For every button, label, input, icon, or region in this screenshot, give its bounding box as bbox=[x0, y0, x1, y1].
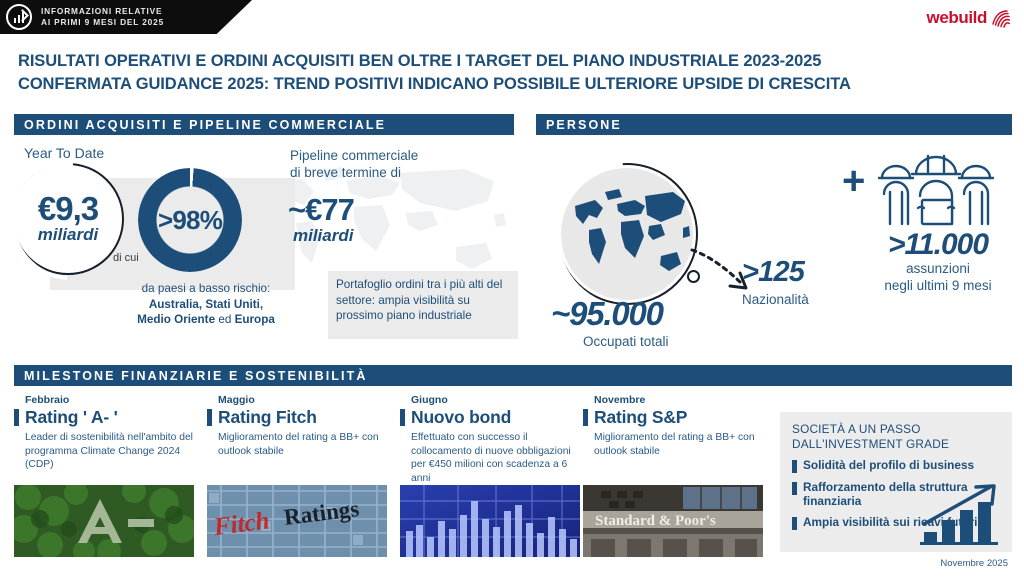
hires-label-line-2: negli ultimi 9 mesi bbox=[850, 277, 1024, 294]
svg-text:Standard & Poor's: Standard & Poor's bbox=[595, 513, 716, 529]
headline-line-1: RISULTATI OPERATIVI E ORDINI ACQUISITI B… bbox=[18, 50, 1010, 73]
milestone-card-0: Febbraio Rating ' A- ' Leader di sosteni… bbox=[14, 394, 196, 472]
milestone-card-3: Novembre Rating S&P Miglioramento del ra… bbox=[583, 394, 765, 458]
hires-label-line-1: assunzioni bbox=[850, 260, 1024, 277]
fitch-ratings-building-photo: Fitch Ratings bbox=[207, 485, 387, 557]
infographic-page: INFORMAZIONI RELATIVE AI PRIMI 9 MESI DE… bbox=[0, 0, 1024, 580]
ribbon-line-1: INFORMAZIONI RELATIVE bbox=[41, 6, 164, 17]
milestone-month: Febbraio bbox=[25, 394, 196, 406]
low-risk-countries-1: Australia, Stati Uniti, bbox=[149, 298, 263, 311]
plus-icon: + bbox=[842, 161, 865, 201]
webuild-logo: webuild bbox=[927, 8, 1010, 28]
ribbon-line-2: AI PRIMI 9 MESI DEL 2025 bbox=[41, 17, 164, 28]
milestone-description: Effettuato con successo il collocamento … bbox=[411, 431, 582, 485]
employees-label: Occupati totali bbox=[583, 334, 669, 349]
milestone-month: Maggio bbox=[218, 394, 389, 406]
pipeline-value: ~€77 bbox=[288, 192, 354, 228]
pipeline-lead: Pipeline commerciale di breve termine di bbox=[290, 147, 418, 181]
footer-date: Novembre 2025 bbox=[940, 558, 1008, 569]
logo-wordmark: webuild bbox=[927, 8, 987, 28]
milestone-description: Leader di sostenibilità nell'ambito del … bbox=[25, 431, 196, 472]
milestone-tick-icon bbox=[400, 409, 405, 426]
milestone-month: Novembre bbox=[594, 394, 765, 406]
milestone-title: Rating ' A- ' bbox=[25, 407, 118, 428]
standard-and-poors-building-photo: Standard & Poor's bbox=[583, 485, 763, 557]
ig-heading-line-1: SOCIETÀ A UN PASSO bbox=[792, 422, 1000, 437]
portfolio-note: Portafoglio ordini tra i più alti del se… bbox=[328, 271, 518, 339]
chart-bars-arrow-icon bbox=[6, 4, 32, 30]
milestone-tick-icon bbox=[583, 409, 588, 426]
section-header-milestones: MILESTONE FINANZIARIE E SOSTENIBILITÀ bbox=[14, 365, 1012, 386]
growth-bar-chart-arrow-icon bbox=[920, 484, 1004, 546]
low-risk-lead: da paesi a basso rischio: bbox=[142, 282, 271, 295]
pipeline-lead-line-2: di breve termine di bbox=[290, 164, 418, 181]
headline-line-2: CONFERMATA GUIDANCE 2025: TREND POSITIVI… bbox=[18, 73, 1010, 96]
page-title: RISULTATI OPERATIVI E ORDINI ACQUISITI B… bbox=[18, 50, 1010, 96]
globe-icon bbox=[556, 163, 698, 305]
milestone-description: Miglioramento del rating a BB+ con outlo… bbox=[594, 431, 765, 458]
blue-stock-chart-photo bbox=[400, 485, 580, 557]
milestone-tick-icon bbox=[207, 409, 212, 426]
section-header-people: PERSONE bbox=[536, 114, 1012, 135]
milestone-month: Giugno bbox=[411, 394, 582, 406]
milestone-description: Miglioramento del rating a BB+ con outlo… bbox=[218, 431, 389, 458]
milestone-title: Nuovo bond bbox=[411, 407, 511, 428]
milestone-title: Rating S&P bbox=[594, 407, 687, 428]
ig-bullet-0: Solidità del profilo di business bbox=[792, 458, 1000, 473]
pipeline-unit: miliardi bbox=[293, 226, 353, 246]
nationalities-value: >125 bbox=[742, 256, 804, 289]
low-risk-countries-3: Europa bbox=[235, 313, 275, 326]
low-risk-caption: da paesi a basso rischio: Australia, Sta… bbox=[100, 281, 312, 328]
donut-value: >98% bbox=[158, 205, 222, 236]
ytd-label: Year To Date bbox=[24, 145, 104, 161]
ytd-circle: €9,3 miliardi bbox=[12, 163, 124, 275]
investment-grade-box: SOCIETÀ A UN PASSO DALL'INVESTMENT GRADE… bbox=[780, 412, 1012, 552]
bullet-tick-icon bbox=[792, 517, 797, 530]
section-header-orders: ORDINI ACQUISITI E PIPELINE COMMERCIALE bbox=[14, 114, 514, 135]
ig-bullet-text: Solidità del profilo di business bbox=[803, 458, 974, 472]
milestone-card-1: Maggio Rating Fitch Miglioramento del ra… bbox=[207, 394, 389, 458]
period-ribbon: INFORMAZIONI RELATIVE AI PRIMI 9 MESI DE… bbox=[0, 0, 252, 34]
ig-heading-line-2: DALL'INVESTMENT GRADE bbox=[792, 437, 1000, 452]
employees-value: ~95.000 bbox=[551, 295, 663, 333]
milestone-tick-icon bbox=[14, 409, 19, 426]
forest-aerial-a-minus-photo bbox=[14, 485, 194, 557]
pipeline-lead-line-1: Pipeline commerciale bbox=[290, 147, 418, 164]
hires-value: >11.000 bbox=[856, 228, 1020, 262]
di-cui-label: di cui bbox=[113, 252, 139, 264]
investment-grade-heading: SOCIETÀ A UN PASSO DALL'INVESTMENT GRADE bbox=[792, 422, 1000, 451]
workers-group-icon bbox=[872, 148, 1000, 234]
webuild-swirl-icon bbox=[990, 9, 1010, 28]
nationalities-label: Nazionalità bbox=[742, 292, 809, 307]
hires-label: assunzioni negli ultimi 9 mesi bbox=[850, 260, 1024, 294]
milestone-card-2: Giugno Nuovo bond Effettuato con success… bbox=[400, 394, 582, 485]
low-risk-conjunction: ed bbox=[215, 313, 235, 326]
low-risk-donut: >98% bbox=[138, 168, 242, 272]
milestone-title: Rating Fitch bbox=[218, 407, 317, 428]
bullet-tick-icon bbox=[792, 482, 797, 495]
ribbon-text: INFORMAZIONI RELATIVE AI PRIMI 9 MESI DE… bbox=[41, 6, 164, 28]
bullet-tick-icon bbox=[792, 460, 797, 473]
low-risk-countries-2: Medio Oriente bbox=[137, 313, 215, 326]
